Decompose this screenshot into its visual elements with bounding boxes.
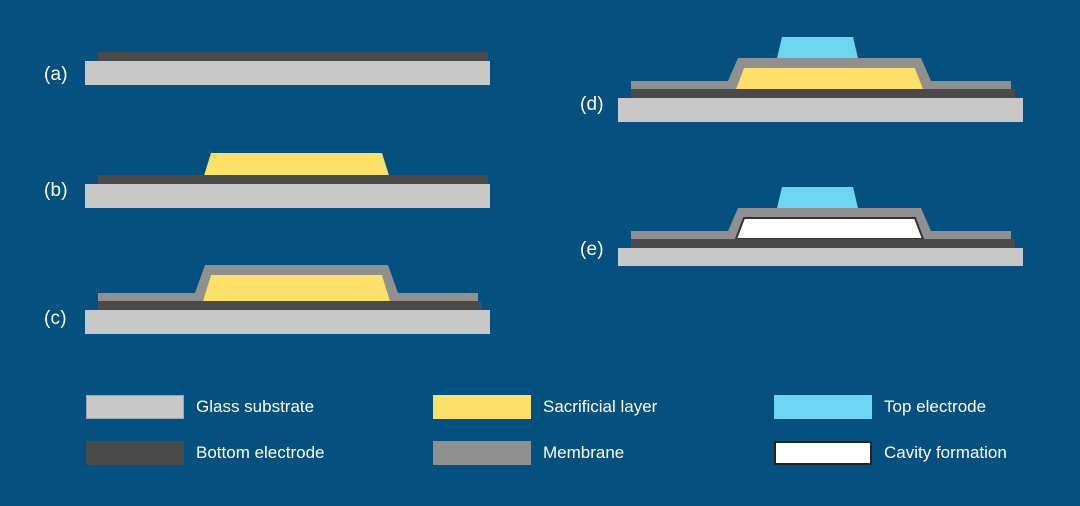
process-flow-figure: (a) (b) (c) (d) (e) [0, 0, 1080, 506]
bottom-electrode-layer [631, 89, 1015, 98]
legend-label-bottom-electrode: Bottom electrode [196, 438, 325, 468]
legend: Glass substrate Bottom electrode Sacrifi… [0, 380, 1080, 480]
top-electrode-layer [777, 187, 858, 208]
glass-substrate-layer [85, 310, 490, 334]
panel-c-stack [80, 260, 500, 336]
legend-item-sacrificial-layer: Sacrificial layer [425, 392, 765, 422]
panel-a-stack [80, 40, 500, 96]
legend-item-top-electrode: Top electrode [766, 392, 1080, 422]
panel-label-d: (d) [580, 94, 604, 116]
bottom-electrode-layer [98, 52, 488, 61]
legend-column-3: Top electrode Cavity formation [766, 380, 1080, 480]
legend-item-bottom-electrode: Bottom electrode [78, 438, 418, 468]
legend-label-membrane: Membrane [543, 438, 624, 468]
panel-label-b: (b) [44, 180, 68, 202]
membrane-swatch [433, 441, 531, 465]
legend-label-glass-substrate: Glass substrate [196, 392, 314, 422]
legend-item-membrane: Membrane [425, 438, 765, 468]
sacrificial-layer-swatch [433, 395, 531, 419]
legend-label-sacrificial-layer: Sacrificial layer [543, 392, 657, 422]
bottom-electrode-layer [98, 175, 488, 184]
sacrificial-layer-layer [203, 275, 390, 301]
legend-item-glass-substrate: Glass substrate [78, 392, 418, 422]
bottom-electrode-layer [98, 301, 482, 310]
top-electrode-layer [777, 37, 858, 58]
glass-substrate-layer [85, 61, 490, 85]
glass-substrate-layer [618, 248, 1023, 266]
panel-d-stack [613, 32, 1033, 124]
legend-item-cavity-formation: Cavity formation [766, 438, 1080, 468]
cavity-formation-layer [736, 218, 923, 239]
glass-substrate-swatch [86, 395, 184, 419]
sacrificial-layer-layer [736, 68, 923, 89]
top-electrode-swatch [774, 395, 872, 419]
glass-substrate-layer [85, 184, 490, 208]
panel-b-stack [80, 140, 500, 212]
panel-label-e: (e) [580, 239, 604, 261]
panel-e-stack [613, 182, 1033, 266]
panel-label-a: (a) [44, 64, 68, 86]
glass-substrate-layer [618, 98, 1023, 122]
panel-label-c: (c) [44, 308, 67, 330]
bottom-electrode-swatch [86, 441, 184, 465]
legend-column-2: Sacrificial layer Membrane [425, 380, 765, 480]
legend-label-cavity-formation: Cavity formation [884, 438, 1007, 468]
legend-label-top-electrode: Top electrode [884, 392, 986, 422]
bottom-electrode-layer [631, 239, 1015, 248]
cavity-formation-swatch [774, 441, 872, 465]
legend-column-1: Glass substrate Bottom electrode [78, 380, 418, 480]
